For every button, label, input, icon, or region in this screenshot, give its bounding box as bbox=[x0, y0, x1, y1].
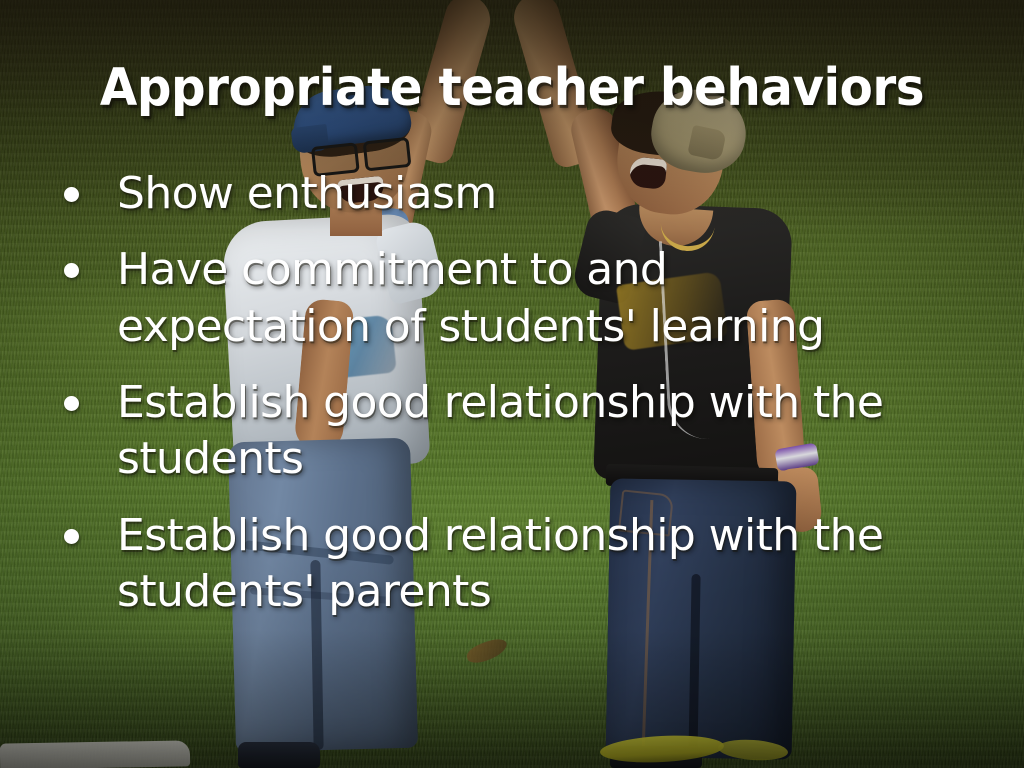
list-item: Establish good relationship with the stu… bbox=[56, 508, 886, 621]
bullet-text: Establish good relationship with the stu… bbox=[117, 508, 886, 621]
bullet-dot-icon bbox=[64, 529, 79, 544]
bullet-text: Have commitment to and expectation of st… bbox=[117, 242, 886, 355]
bullet-dot-icon bbox=[64, 187, 79, 202]
bullet-text: Show enthusiasm bbox=[117, 166, 497, 222]
list-item: Establish good relationship with the stu… bbox=[56, 375, 886, 488]
slide-content: Appropriate teacher behaviors Show enthu… bbox=[0, 0, 1024, 768]
bullet-dot-icon bbox=[64, 396, 79, 411]
list-item: Show enthusiasm bbox=[56, 166, 886, 222]
bullet-text: Establish good relationship with the stu… bbox=[117, 375, 886, 488]
page-title: Appropriate teacher behaviors bbox=[36, 61, 988, 116]
bullet-dot-icon bbox=[64, 263, 79, 278]
bullet-list: Show enthusiasm Have commitment to and e… bbox=[56, 166, 886, 640]
presentation-slide: Appropriate teacher behaviors Show enthu… bbox=[0, 0, 1024, 768]
list-item: Have commitment to and expectation of st… bbox=[56, 242, 886, 355]
